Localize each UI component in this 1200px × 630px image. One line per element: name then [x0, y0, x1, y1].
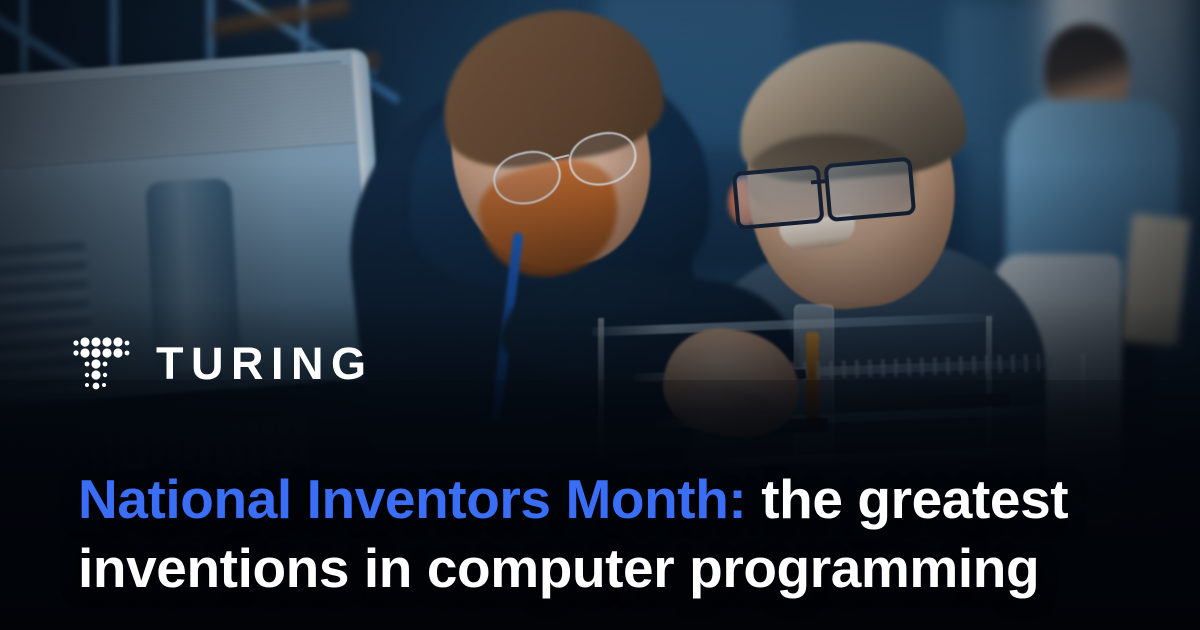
banner-content: TURING National Inventors Month: the gre… [0, 0, 1200, 630]
social-share-banner: TURING National Inventors Month: the gre… [0, 0, 1200, 630]
turing-dot-t-logo-icon [72, 336, 130, 392]
turing-brand-lockup[interactable]: TURING [72, 336, 374, 392]
headline-accent-text: National Inventors Month: [78, 468, 746, 530]
turing-wordmark: TURING [156, 341, 374, 388]
page-title: National Inventors Month: the greatest i… [78, 465, 1138, 604]
